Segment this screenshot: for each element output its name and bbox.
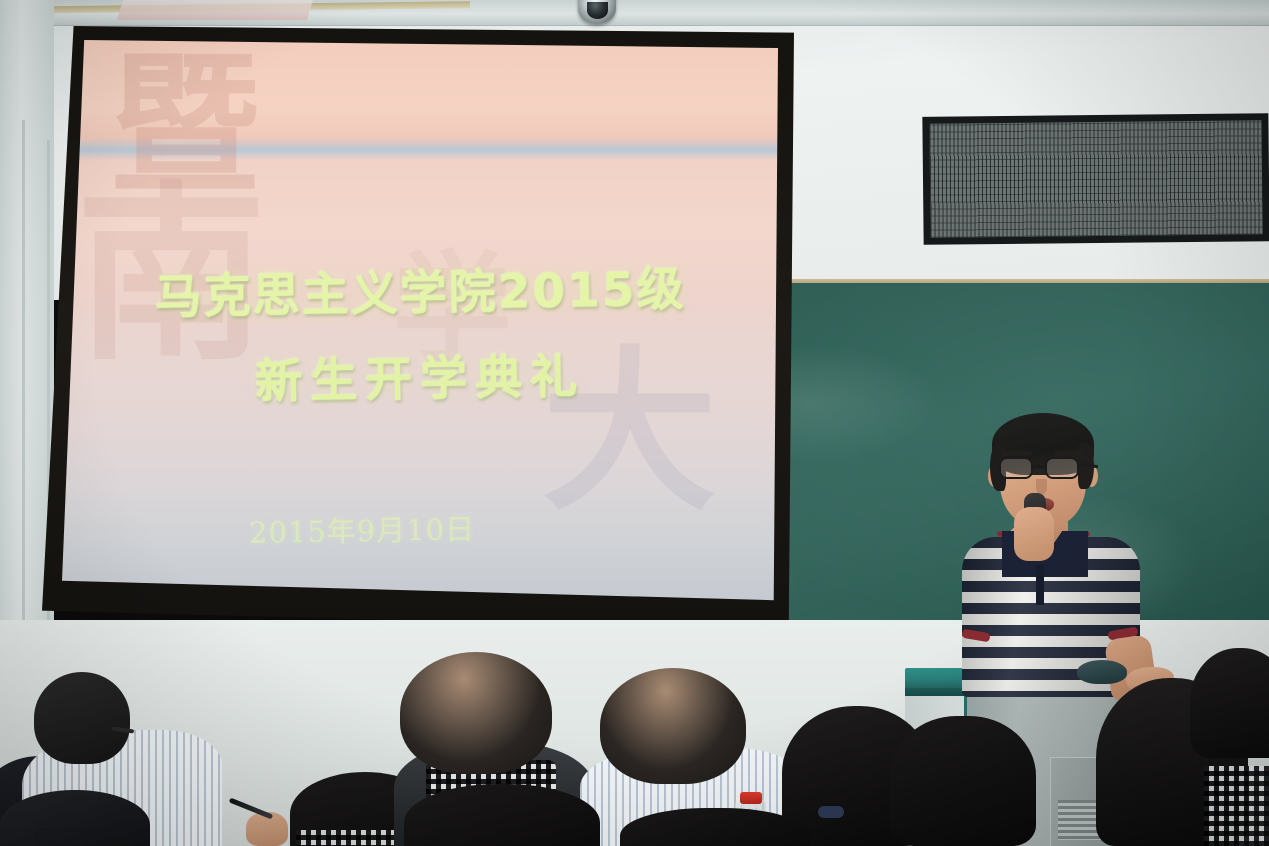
audience-man-balding-checked-head [400,652,552,774]
presenter-shirt-placket [1036,565,1044,605]
grille-mesh [929,120,1262,237]
wall-speaker-grille-icon [922,113,1269,245]
presenter-eyeglasses-icon [996,457,1092,479]
presenter-eyebrow-left [1002,451,1032,456]
hair-tie [818,806,844,818]
audience-head-center-right [890,716,1036,846]
presenter-eyebrow-right [1054,451,1084,456]
slide-title-line-1: 马克思主义学院2015级 [62,248,778,328]
eyeglass-lens-left [999,457,1033,479]
audience-man-balding-white-shirt-head [600,668,746,784]
computer-mouse [1077,660,1127,684]
projection-screen-surface: 暨 南 大 学 马克思主义学院2015级 新生开学典礼 2015年9月10日 [62,40,778,614]
speaker-at-podium [940,395,1190,695]
dome-security-camera-icon [578,0,616,24]
audience-head-far-right [1190,648,1269,758]
eyeglass-bridge [1033,465,1047,468]
audience-eyeglasses-front-left-icon [36,828,88,844]
slide-date: 2015年9月10日 [62,503,662,554]
audience-man-striped-shirt-head [34,672,130,764]
camera-lens [587,2,608,19]
presenter-hand-holding-microphone [1014,507,1054,561]
left-wall-seam-2 [47,140,50,700]
left-wall-seam [22,120,25,700]
screen-mount-bracket [117,0,313,20]
slide-title-line-2: 新生开学典礼 [62,334,778,414]
classroom-photo-scene: 暨 南 大 学 马克思主义学院2015级 新生开学典礼 2015年9月10日 [0,0,1269,846]
eyeglass-lens-right [1045,457,1079,479]
audience-checked-top-right [1204,766,1269,846]
water-bottle-cap [740,792,762,804]
eyeglass-temple [1081,463,1098,468]
